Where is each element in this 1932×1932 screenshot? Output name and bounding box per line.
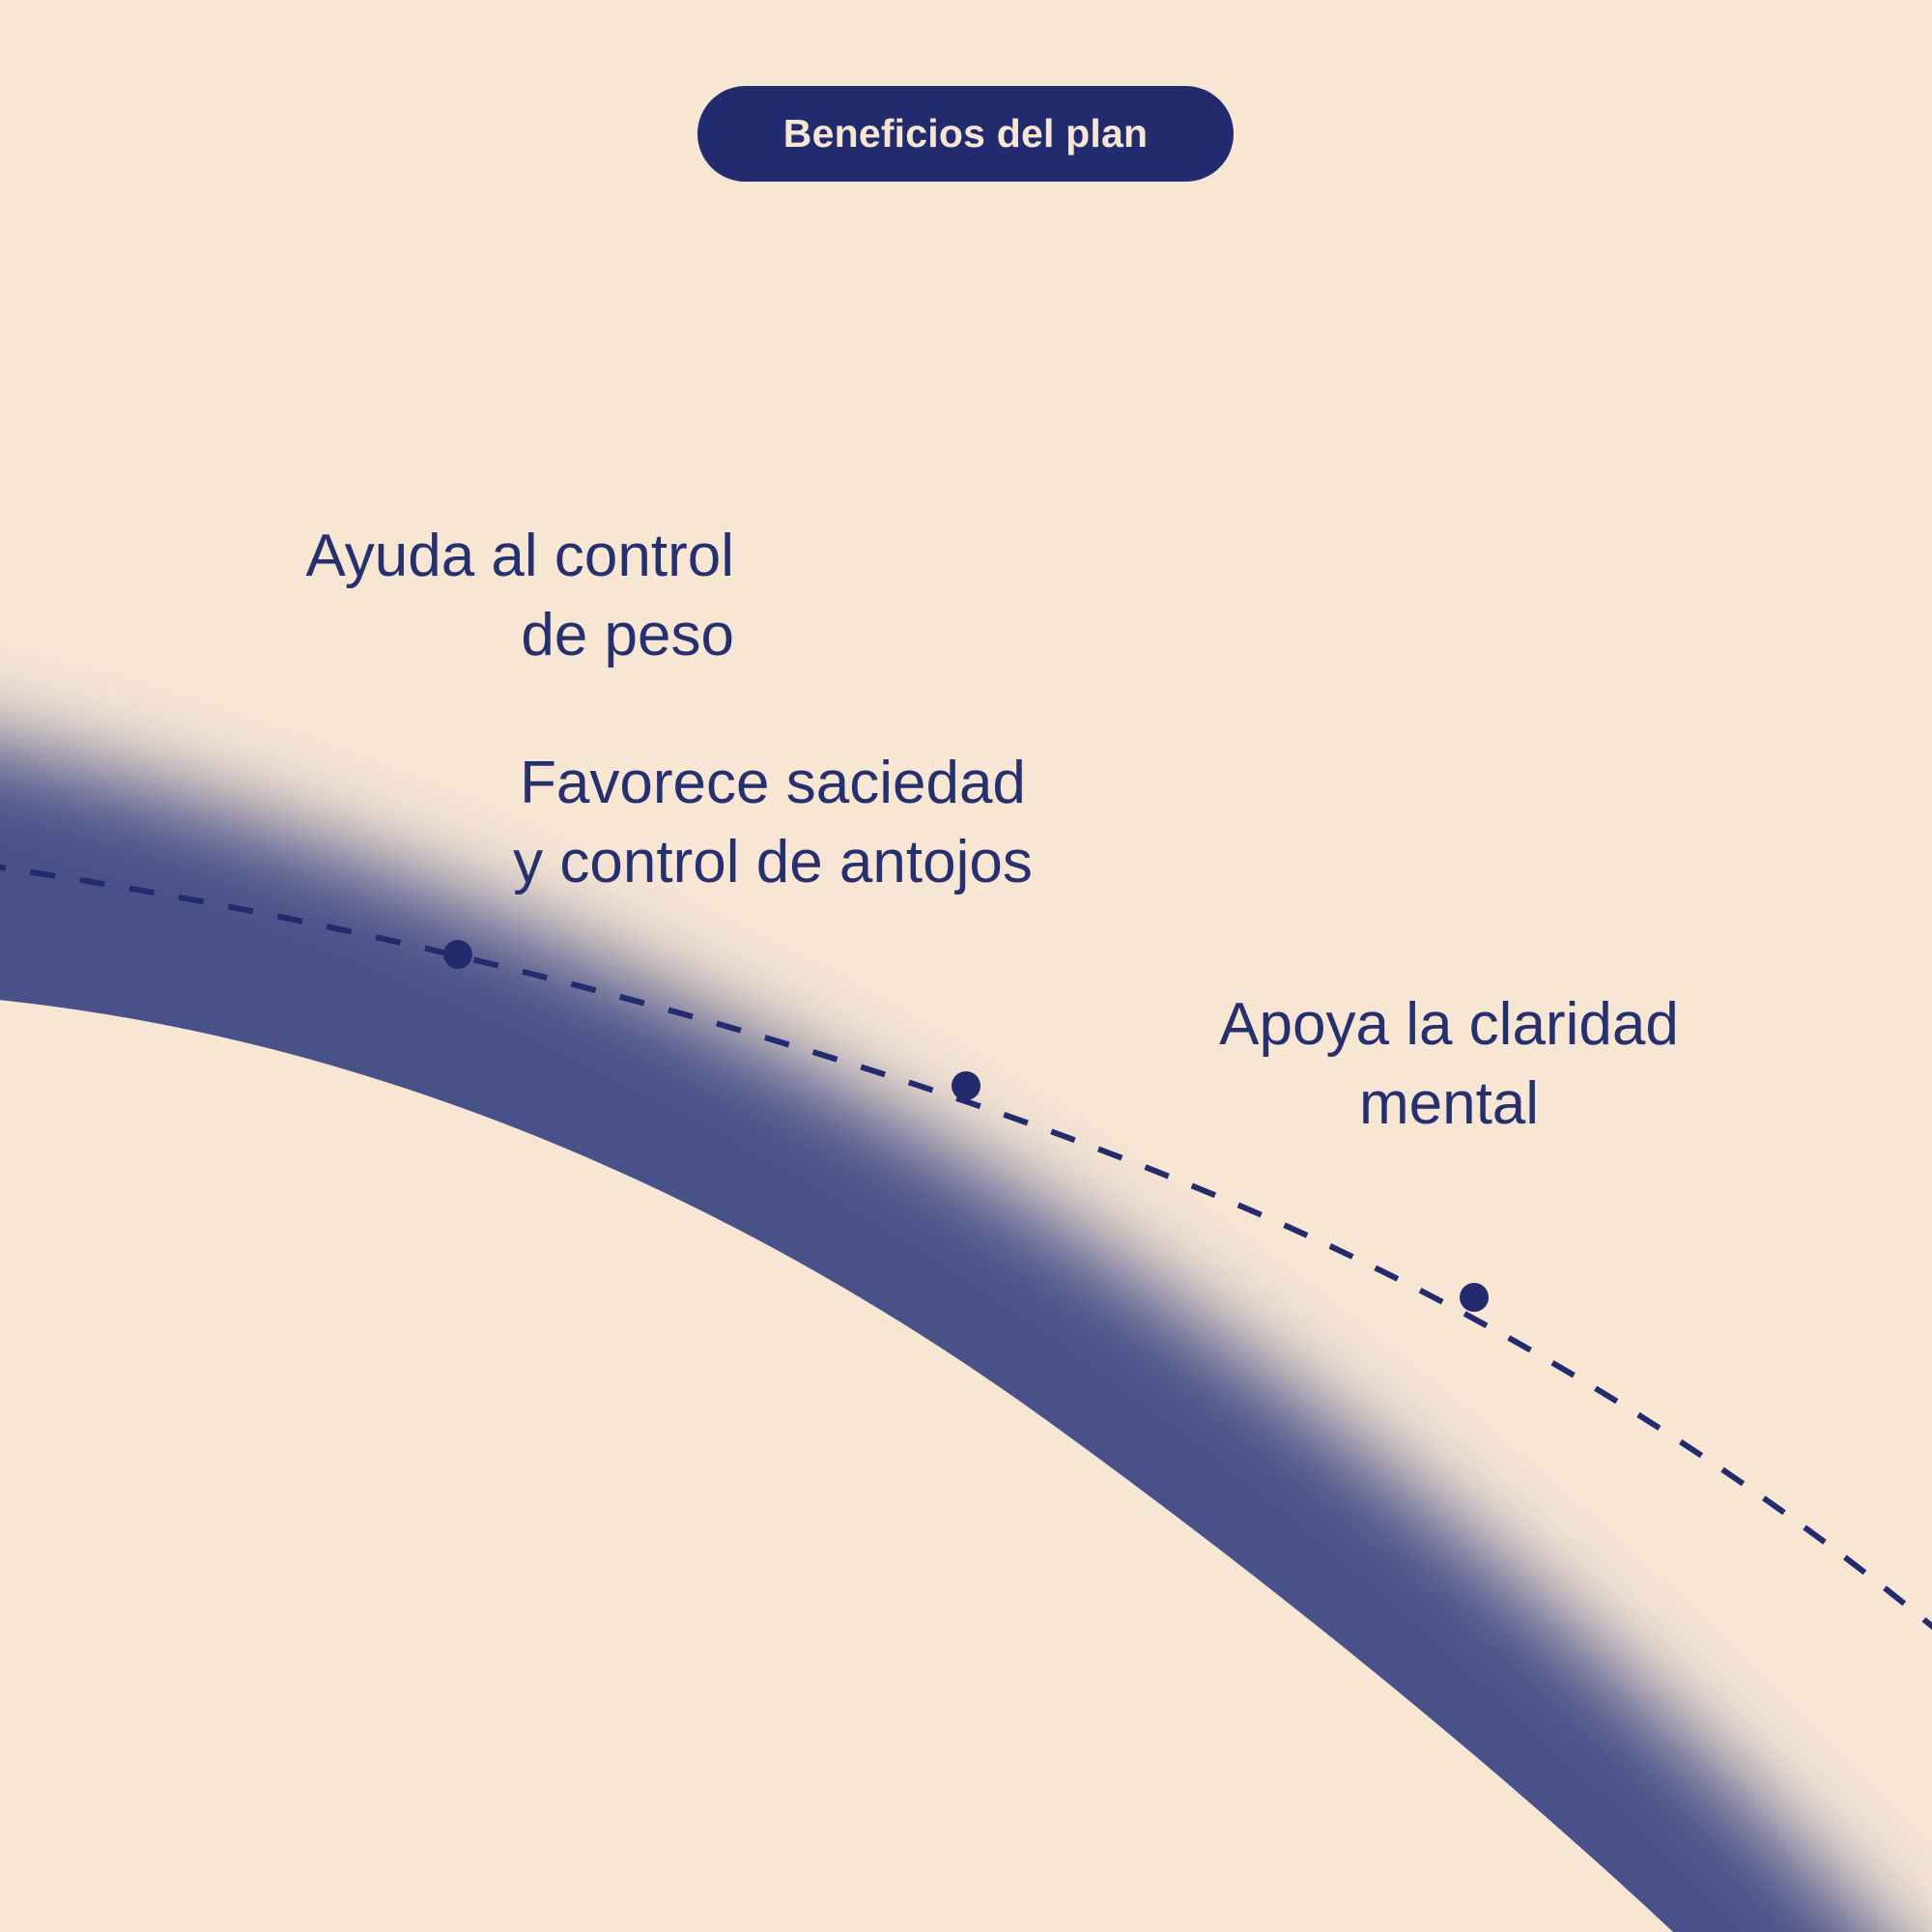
benefit-item-mental-clarity: Apoya la claridad mental: [1130, 985, 1768, 1145]
plan-benefits-badge[interactable]: Beneficios del plan: [697, 86, 1234, 182]
benefit-item-satiety: Favorece saciedad y control de antojos: [415, 744, 1130, 903]
milestone-dot: [1460, 1283, 1489, 1312]
milestone-dot: [952, 1071, 980, 1100]
benefit-item-weight-control: Ayuda al control de peso: [0, 517, 734, 676]
poster-canvas: Beneficios del plan Ayuda al control de …: [0, 0, 1932, 1932]
badge-label: Beneficios del plan: [783, 111, 1148, 156]
arc-decoration: [0, 0, 1932, 1932]
milestone-dot: [443, 940, 472, 969]
dashed-connector-line: [0, 865, 1932, 1642]
